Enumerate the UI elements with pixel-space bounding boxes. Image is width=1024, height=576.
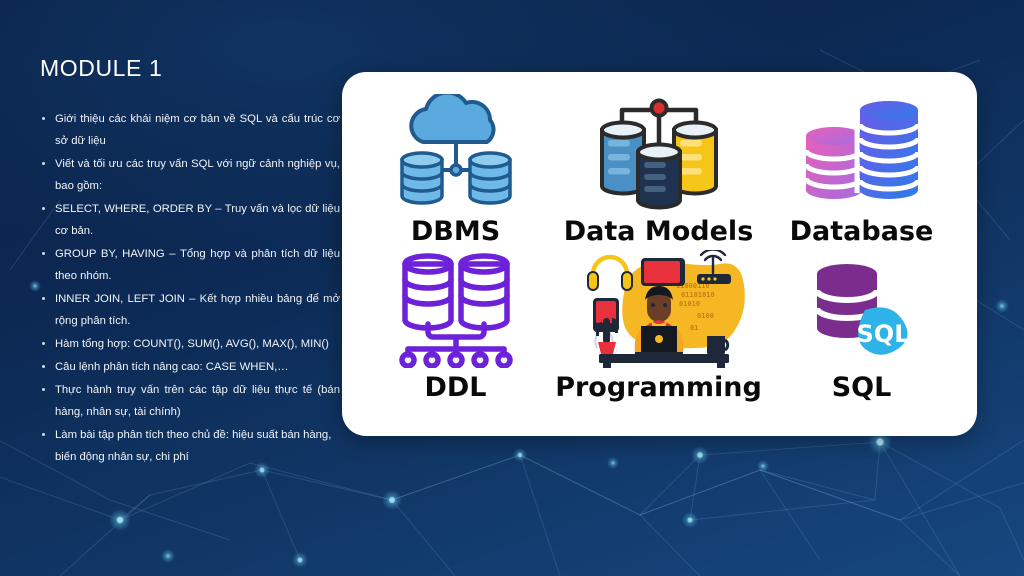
tile-ddl[interactable]: DDL — [354, 250, 557, 401]
developer-desk-icon: 11000110 01101010 01010 0100 01 — [569, 250, 749, 368]
tile-label: DBMS — [411, 218, 500, 245]
svg-text:0100: 0100 — [697, 312, 714, 320]
list-item: Hàm tổng hợp: COUNT(), SUM(), AVG(), MAX… — [40, 333, 340, 355]
icon-grid-row-top: DBMS — [354, 94, 965, 245]
page-title: MODULE 1 — [40, 55, 340, 82]
tile-database[interactable]: Database — [760, 94, 963, 245]
tile-programming[interactable]: 11000110 01101010 01010 0100 01 — [557, 250, 760, 401]
list-item: Thực hành truy vấn trên các tập dữ liệu … — [40, 379, 340, 423]
slide-canvas: MODULE 1 Giới thiệu các khái niệm cơ bản… — [0, 0, 1024, 576]
list-item: SELECT, WHERE, ORDER BY – Truy vấn và lọ… — [40, 198, 340, 242]
tile-label: DDL — [424, 374, 486, 401]
list-item: Giới thiệu các khái niệm cơ bản về SQL v… — [40, 108, 340, 152]
list-item: Viết và tối ưu các truy vấn SQL với ngữ … — [40, 153, 340, 197]
tile-label: Database — [790, 218, 934, 245]
icon-card: DBMS — [342, 72, 977, 436]
sql-badge-text: SQL — [856, 320, 909, 348]
list-item: Làm bài tập phân tích theo chủ đề: hiệu … — [40, 424, 340, 468]
content-column: MODULE 1 Giới thiệu các khái niệm cơ bản… — [40, 55, 340, 469]
bullet-list: Giới thiệu các khái niệm cơ bản về SQL v… — [40, 108, 340, 468]
svg-text:01101010: 01101010 — [681, 291, 715, 299]
list-item: GROUP BY, HAVING – Tổng hợp và phân tích… — [40, 243, 340, 287]
cloud-database-icon — [393, 94, 519, 212]
tile-sql[interactable]: SQL SQL — [760, 250, 963, 401]
tile-label: Programming — [555, 374, 762, 401]
svg-text:01: 01 — [690, 324, 698, 332]
tile-dbms[interactable]: DBMS — [354, 94, 557, 245]
sql-database-badge-icon: SQL — [803, 250, 921, 368]
list-item: INNER JOIN, LEFT JOIN – Kết hợp nhiều bả… — [40, 288, 340, 332]
svg-text:01010: 01010 — [679, 300, 700, 308]
three-database-stack-icon — [589, 94, 729, 212]
tile-label: SQL — [832, 374, 892, 401]
database-stacks-icon — [798, 94, 926, 212]
ddl-schema-tree-icon — [393, 250, 519, 368]
list-item: Câu lệnh phân tích nâng cao: CASE WHEN,… — [40, 356, 340, 378]
tile-data-models[interactable]: Data Models — [557, 94, 760, 245]
tile-label: Data Models — [564, 218, 754, 245]
icon-grid-row-bottom: DDL 11000110 01101010 01010 0100 01 — [354, 250, 965, 401]
